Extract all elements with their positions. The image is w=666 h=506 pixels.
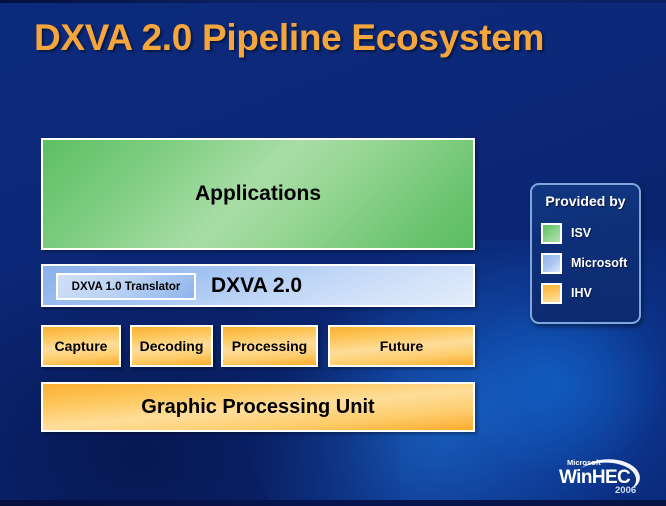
applications-label: Applications [195, 182, 321, 206]
diagram-box-capture: Capture [41, 325, 121, 367]
legend-swatch-isv-icon [541, 223, 562, 244]
diagram-box-applications: Applications [41, 138, 475, 250]
winhec-logo: Microsoft WinHEC 2006 [549, 454, 649, 496]
diagram-box-future: Future [328, 325, 475, 367]
slide-canvas: DXVA 2.0 Pipeline Ecosystem Applications… [0, 0, 666, 506]
legend-item-isv: ISV [532, 218, 639, 248]
diagram-box-dxva2: DXVA 1.0 Translator DXVA 2.0 [41, 264, 475, 307]
legend-item-microsoft: Microsoft [532, 248, 639, 278]
dxva2-label: DXVA 2.0 [211, 274, 302, 298]
diagram-box-gpu: Graphic Processing Unit [41, 382, 475, 432]
legend-swatch-microsoft-icon [541, 253, 562, 274]
winhec-year-text: 2006 [615, 485, 636, 496]
diagram-box-decoding: Decoding [130, 325, 213, 367]
bottom-edge-strip [0, 500, 666, 506]
winhec-microsoft-text: Microsoft [567, 458, 601, 467]
legend-item-ihv: IHV [532, 278, 639, 308]
legend-swatch-ihv-icon [541, 283, 562, 304]
winhec-logo-icon: Microsoft WinHEC 2006 [549, 454, 649, 496]
decoding-label: Decoding [140, 338, 204, 354]
legend-title: Provided by [532, 193, 639, 209]
slide-title: DXVA 2.0 Pipeline Ecosystem [34, 17, 544, 59]
future-label: Future [380, 338, 424, 354]
legend-label-ihv: IHV [571, 286, 592, 300]
diagram-box-processing: Processing [221, 325, 318, 367]
gpu-label: Graphic Processing Unit [141, 396, 374, 419]
dxva1-translator-label: DXVA 1.0 Translator [72, 281, 181, 293]
diagram-box-dxva1-translator: DXVA 1.0 Translator [56, 273, 196, 300]
legend-label-isv: ISV [571, 226, 591, 240]
top-edge-strip [0, 0, 666, 3]
processing-label: Processing [232, 338, 307, 354]
capture-label: Capture [55, 338, 108, 354]
legend-label-microsoft: Microsoft [571, 256, 627, 270]
legend-panel: Provided by ISV Microsoft IHV [530, 183, 641, 324]
